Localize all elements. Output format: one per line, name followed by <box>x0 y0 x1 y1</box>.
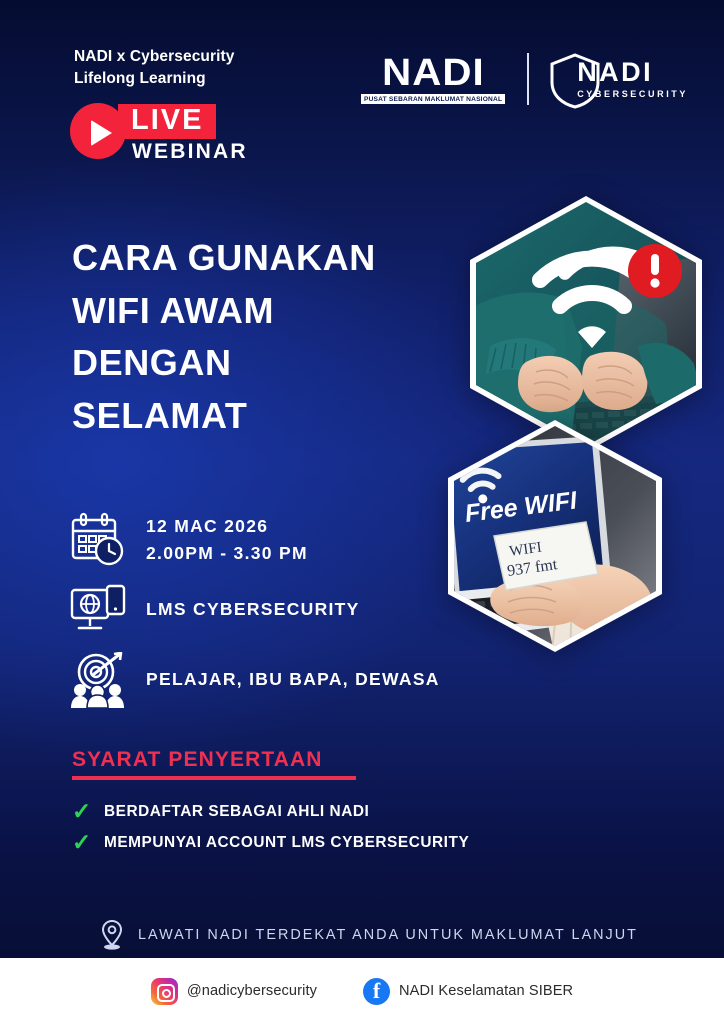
check-icon: ✓ <box>72 831 104 854</box>
poster-canvas: NADI x Cybersecurity Lifelong Learning L… <box>0 0 724 1024</box>
logo-divider <box>527 53 529 105</box>
check-icon: ✓ <box>72 800 104 823</box>
target-audience-icon <box>70 652 146 708</box>
headline-line-3: DENGAN <box>72 337 432 390</box>
event-audience: PELAJAR, IBU BAPA, DEWASA <box>146 666 440 693</box>
social-facebook[interactable]: f NADI Keselamatan SIBER <box>363 978 573 1005</box>
cyber-subtitle: CYBERSECURITY <box>577 89 688 99</box>
facebook-handle[interactable]: NADI Keselamatan SIBER <box>399 983 573 999</box>
footnote-block: LAWATI NADI TERDEKAT ANDA UNTUK MAKLUMAT… <box>100 920 638 950</box>
instagram-handle[interactable]: @nadicybersecurity <box>187 983 317 999</box>
detail-row-datetime: 12 MAC 2026 2.00PM - 3.30 PM <box>70 505 500 575</box>
requirements-underline <box>72 776 356 780</box>
detail-row-platform: LMS CYBERSECURITY <box>70 575 500 645</box>
live-label: LIVE <box>118 104 216 139</box>
monitor-globe-device-icon <box>70 584 146 636</box>
headline-block: CARA GUNAKAN WIFI AWAM DENGAN SELAMAT <box>72 232 432 442</box>
live-webinar-badge: LIVE WEBINAR <box>70 100 260 166</box>
headline-line-1: CARA GUNAKAN <box>72 232 432 285</box>
webinar-label: WEBINAR <box>132 140 248 164</box>
event-date: 12 MAC 2026 <box>146 513 308 540</box>
social-bar: @nadicybersecurity f NADI Keselamatan SI… <box>0 958 724 1024</box>
instagram-icon[interactable] <box>151 978 178 1005</box>
cyber-text-block: NADI CYBERSECURITY <box>577 59 688 99</box>
list-item: ✓ BERDAFTAR SEBAGAI AHLI NADI <box>72 801 552 824</box>
calendar-clock-icon <box>70 512 146 568</box>
nadi-cybersecurity-logo: NADI CYBERSECURITY <box>551 50 688 108</box>
header-kicker: NADI x Cybersecurity Lifelong Learning <box>74 46 374 90</box>
event-time: 2.00PM - 3.30 PM <box>146 540 308 567</box>
requirements-block: SYARAT PENYERTAAN ✓ BERDAFTAR SEBAGAI AH… <box>72 748 552 863</box>
logo-group: NADI PUSAT SEBARAN MAKLUMAT NASIONAL NAD… <box>361 48 688 110</box>
requirements-title: SYARAT PENYERTAAN <box>72 748 552 772</box>
kicker-line-2: Lifelong Learning <box>74 68 374 90</box>
kicker-line-1: NADI x Cybersecurity <box>74 46 374 68</box>
list-item: ✓ MEMPUNYAI ACCOUNT LMS CYBERSECURITY <box>72 832 552 855</box>
headline-line-2: WIFI AWAM <box>72 285 432 338</box>
requirement-label: MEMPUNYAI ACCOUNT LMS CYBERSECURITY <box>104 834 469 852</box>
requirement-label: BERDAFTAR SEBAGAI AHLI NADI <box>104 803 369 821</box>
cyber-wordmark: NADI <box>577 59 653 86</box>
requirements-list: ✓ BERDAFTAR SEBAGAI AHLI NADI ✓ MEMPUNYA… <box>72 801 552 855</box>
play-icon <box>91 120 112 146</box>
event-platform: LMS CYBERSECURITY <box>146 596 360 623</box>
detail-text-datetime: 12 MAC 2026 2.00PM - 3.30 PM <box>146 513 308 567</box>
hex-image-wifi-alert <box>470 196 702 452</box>
headline-line-4: SELAMAT <box>72 390 432 443</box>
nadi-wordmark: NADI <box>382 54 485 92</box>
nadi-logo: NADI PUSAT SEBARAN MAKLUMAT NASIONAL <box>361 54 527 104</box>
nadi-tagline: PUSAT SEBARAN MAKLUMAT NASIONAL <box>361 94 505 104</box>
facebook-icon[interactable]: f <box>363 978 390 1005</box>
event-details: 12 MAC 2026 2.00PM - 3.30 PM LMS CYBERSE… <box>70 505 500 715</box>
footnote-text: LAWATI NADI TERDEKAT ANDA UNTUK MAKLUMAT… <box>138 927 638 943</box>
social-instagram[interactable]: @nadicybersecurity <box>151 978 317 1005</box>
location-pin-icon <box>100 920 124 950</box>
detail-row-audience: PELAJAR, IBU BAPA, DEWASA <box>70 645 500 715</box>
